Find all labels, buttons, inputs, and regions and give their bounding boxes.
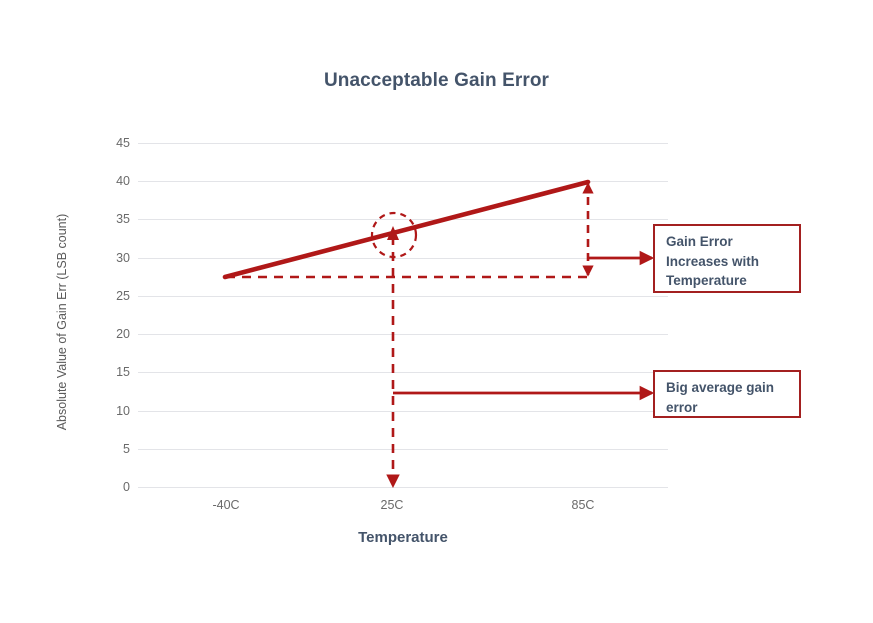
callout-2-line-2: error [666, 398, 799, 418]
chart-title: Unacceptable Gain Error [0, 70, 873, 92]
y-tick-5: 5 [90, 443, 130, 456]
gridline-15 [138, 372, 668, 373]
x-axis-ticks: -40C 25C 85C [138, 498, 668, 518]
y-tick-40: 40 [90, 175, 130, 188]
y-tick-35: 35 [90, 213, 130, 226]
chart-container: Unacceptable Gain Error Absolute Value o… [0, 0, 873, 623]
gridline-35 [138, 219, 668, 220]
gridline-0 [138, 487, 668, 488]
gridline-5 [138, 449, 668, 450]
x-tick-85c: 85C [538, 498, 628, 512]
gridline-10 [138, 411, 668, 412]
y-tick-0: 0 [90, 481, 130, 494]
x-axis-title: Temperature [138, 529, 668, 546]
y-tick-30: 30 [90, 252, 130, 265]
big-average-gain-error-callout[interactable]: Big average gain error [653, 370, 801, 418]
y-tick-25: 25 [90, 290, 130, 303]
x-tick-25c: 25C [347, 498, 437, 512]
gridline-40 [138, 181, 668, 182]
callout-1-line-2: Increases with [666, 252, 799, 272]
y-axis-ticks: 45 40 35 30 25 20 15 10 5 0 [88, 143, 130, 487]
gain-error-increase-callout[interactable]: Gain Error Increases with Temperature [653, 224, 801, 293]
x-tick-minus40c: -40C [181, 498, 271, 512]
gridline-20 [138, 334, 668, 335]
callout-1-line-1: Gain Error [666, 232, 799, 252]
y-tick-45: 45 [90, 137, 130, 150]
callout-2-line-1: Big average gain [666, 378, 799, 398]
y-axis-title: Absolute Value of Gain Err (LSB count) [55, 172, 69, 472]
y-tick-10: 10 [90, 405, 130, 418]
gridline-45 [138, 143, 668, 144]
plot-area [138, 143, 668, 487]
y-tick-20: 20 [90, 328, 130, 341]
callout-1-line-3: Temperature [666, 271, 799, 291]
y-tick-15: 15 [90, 366, 130, 379]
gridline-30 [138, 258, 668, 259]
gridline-25 [138, 296, 668, 297]
